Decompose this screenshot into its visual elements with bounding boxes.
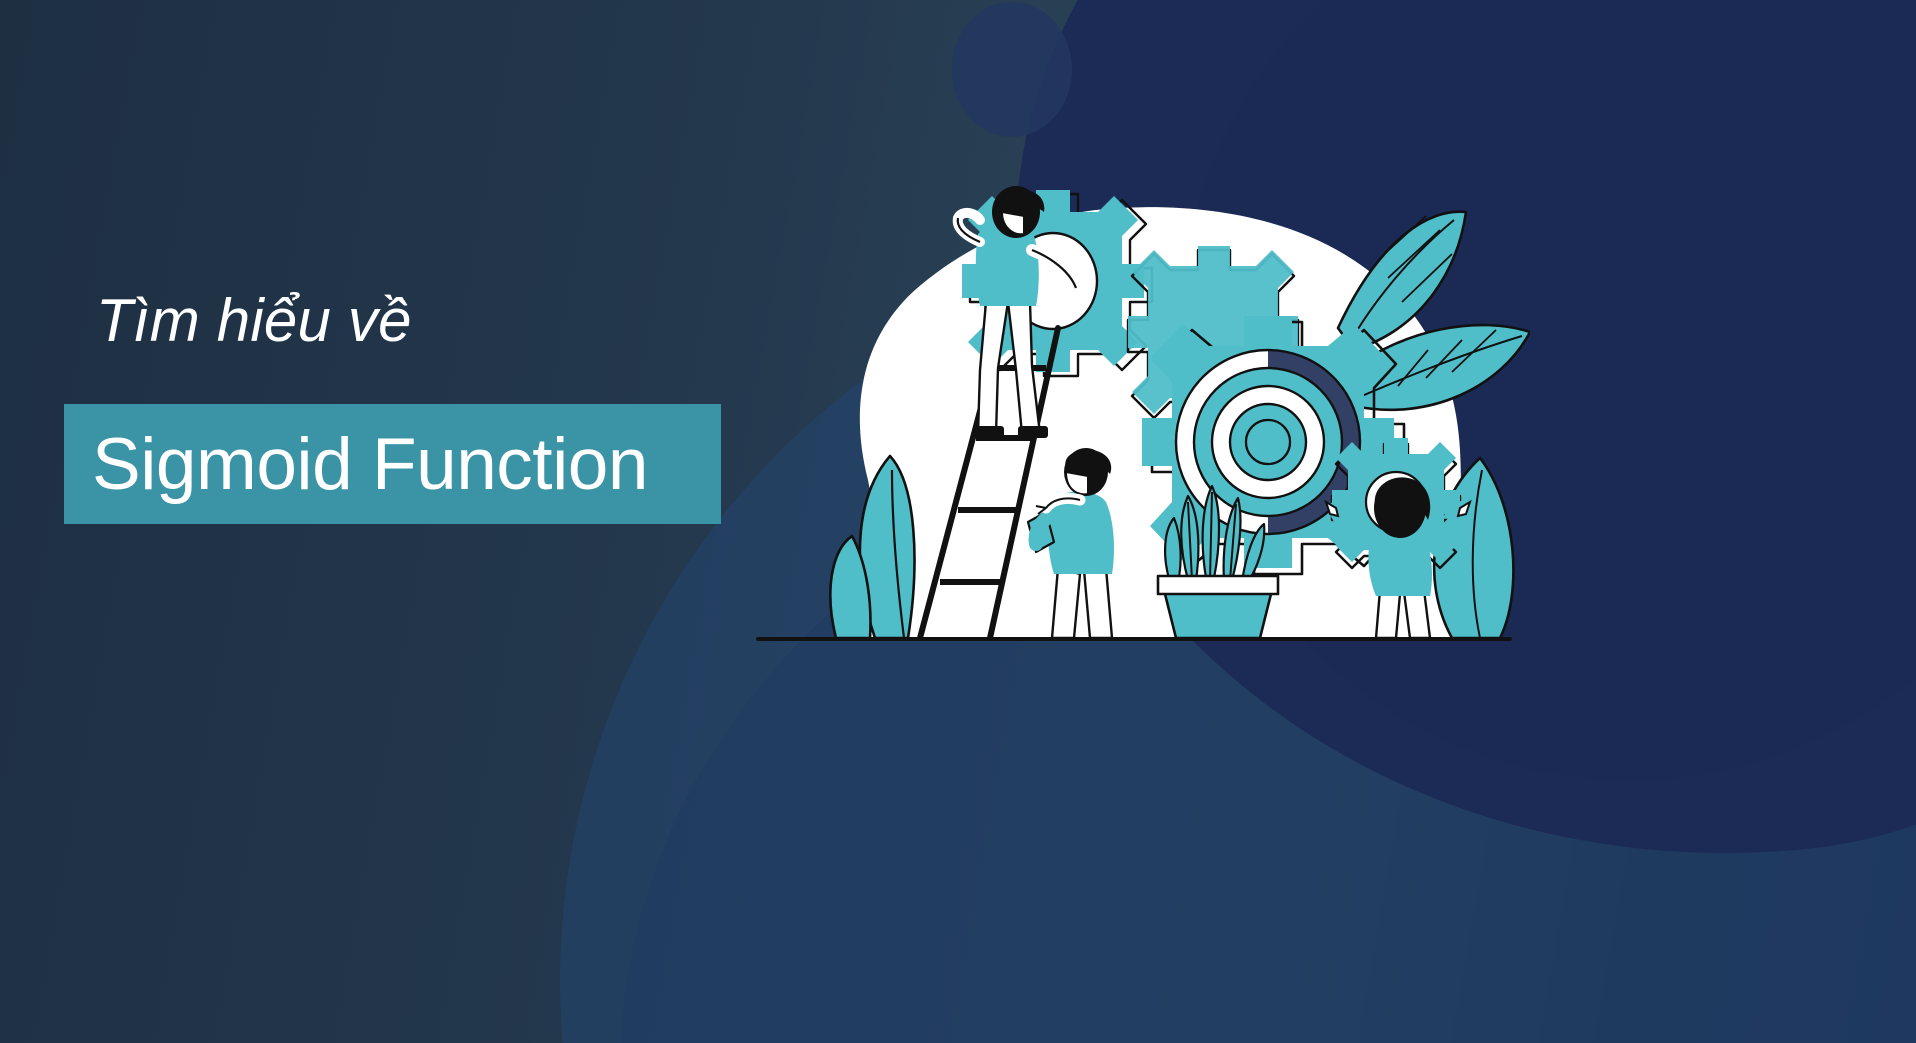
hero-illustration (740, 150, 1530, 650)
leaf-left (830, 456, 914, 638)
hero-text-block: Tìm hiểu về Sigmoid Function (0, 0, 780, 1043)
hero-banner: Tìm hiểu về Sigmoid Function (0, 0, 1916, 1043)
page-title: Sigmoid Function (64, 428, 648, 501)
background-ellipse-accent (952, 2, 1072, 137)
hero-subtitle: Tìm hiểu về (96, 286, 412, 355)
hero-title-bar: Sigmoid Function (64, 404, 721, 524)
